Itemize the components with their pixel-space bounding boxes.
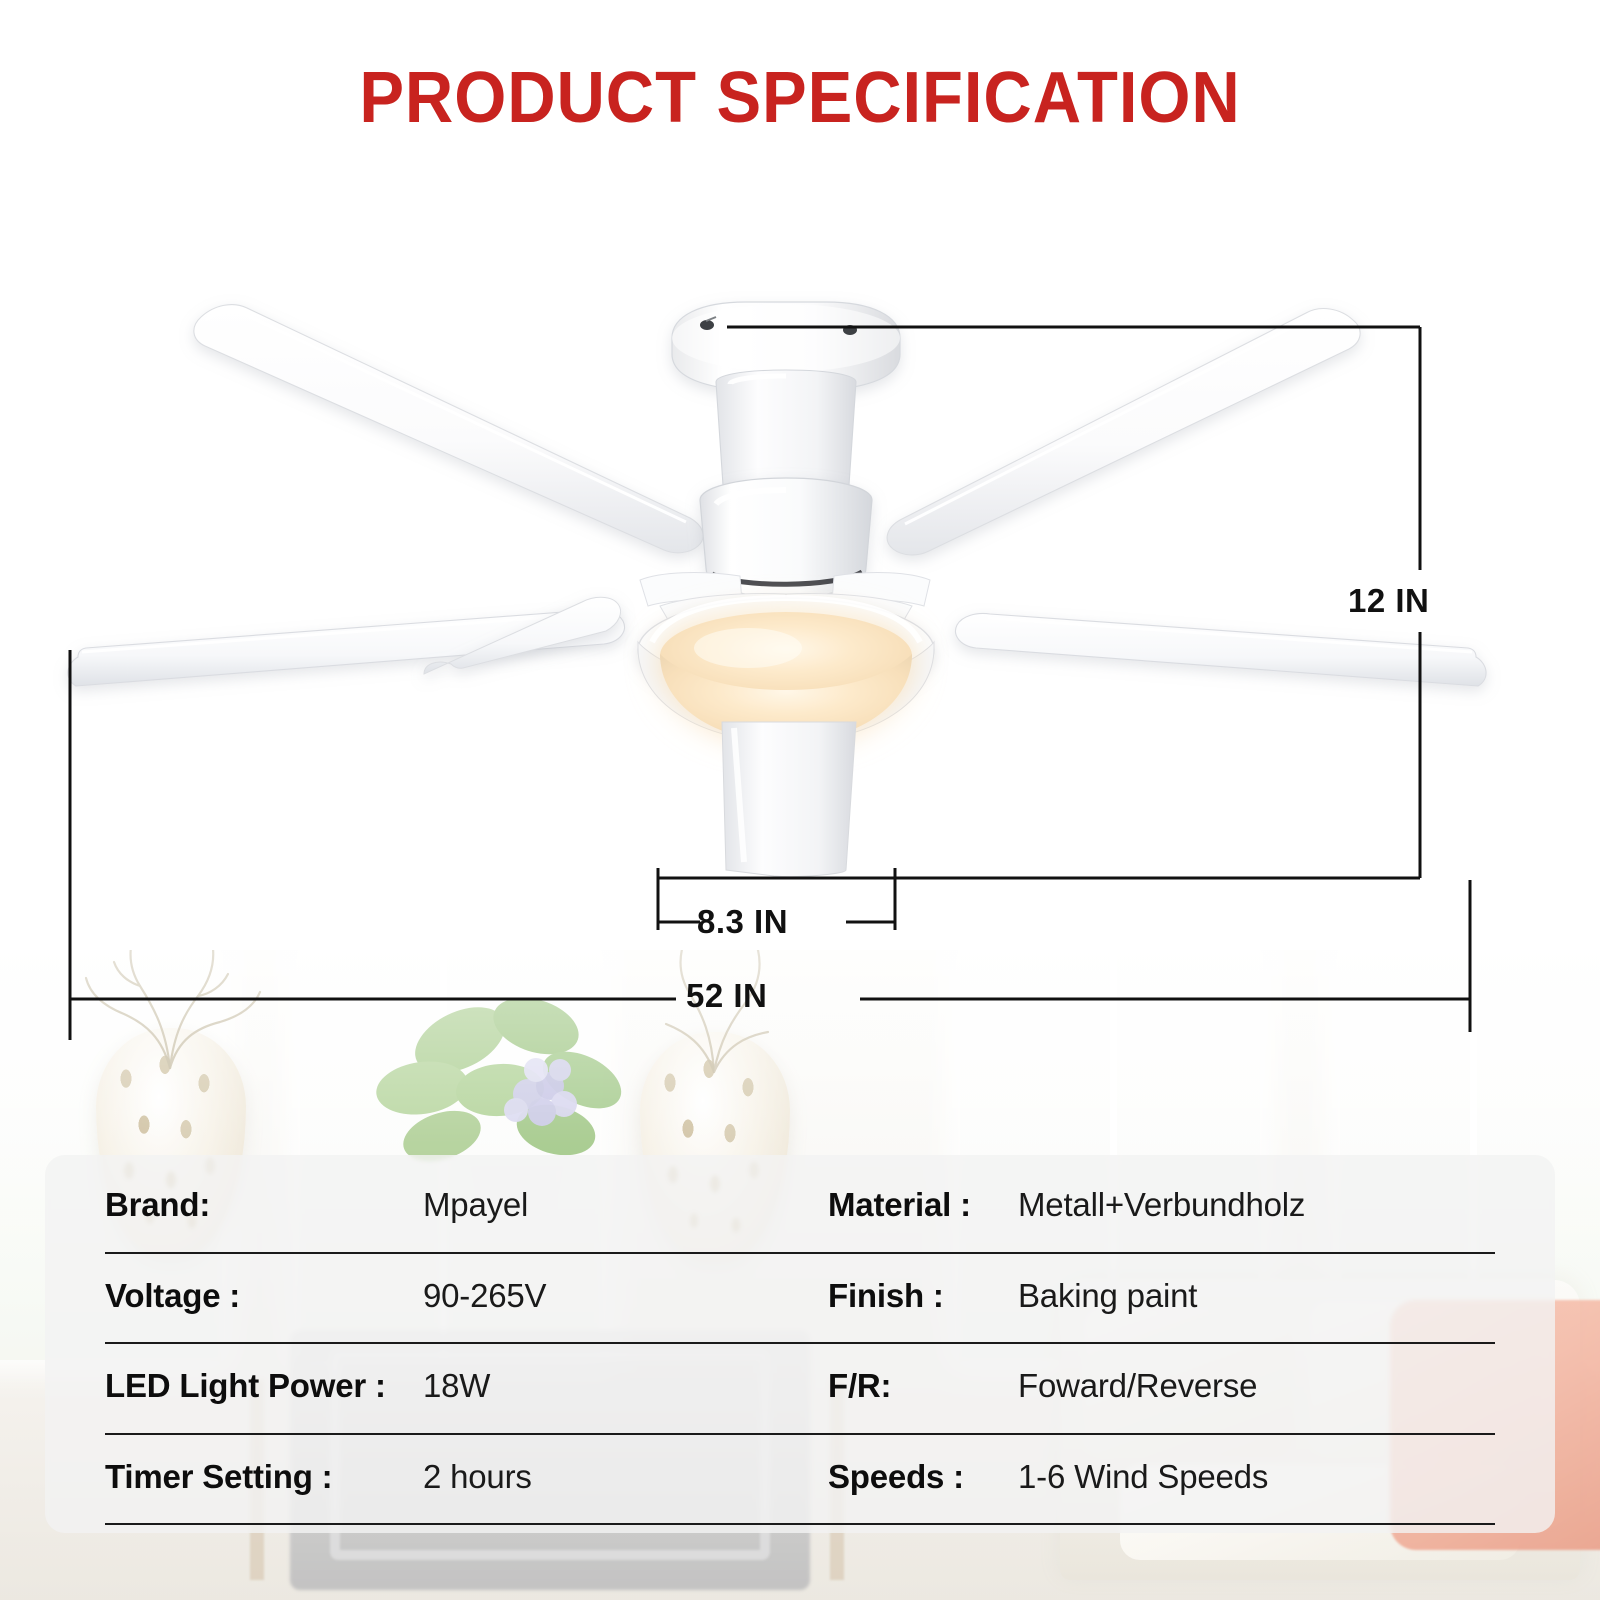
dimension-label-housing-width: 8.3 IN bbox=[697, 903, 788, 941]
fan-lower-stem bbox=[722, 722, 856, 877]
spec-value: Baking paint bbox=[1018, 1277, 1197, 1315]
table-row: Voltage : 90-265V bbox=[105, 1254, 800, 1345]
spec-value: 18W bbox=[423, 1367, 490, 1405]
product-spec-image: PRODUCT SPECIFICATION bbox=[0, 0, 1600, 1600]
table-row: Material : Metall+Verbundholz bbox=[800, 1163, 1495, 1254]
specification-table: Brand: Mpayel Material : Metall+Verbundh… bbox=[105, 1163, 1495, 1525]
spec-value: 1-6 Wind Speeds bbox=[1018, 1458, 1268, 1496]
spec-key: Brand: bbox=[105, 1186, 423, 1224]
table-row: LED Light Power : 18W bbox=[105, 1344, 800, 1435]
page-title: PRODUCT SPECIFICATION bbox=[56, 62, 1544, 134]
spec-key: Voltage : bbox=[105, 1277, 423, 1315]
twig-branches bbox=[70, 950, 270, 1070]
table-row: F/R: Foward/Reverse bbox=[800, 1344, 1495, 1435]
spec-key: Speeds : bbox=[828, 1458, 1018, 1496]
canopy-screw bbox=[843, 325, 857, 335]
dimension-label-height: 12 IN bbox=[1348, 582, 1429, 620]
spec-value: Foward/Reverse bbox=[1018, 1367, 1257, 1405]
table-row: Brand: Mpayel bbox=[105, 1163, 800, 1254]
spec-key: F/R: bbox=[828, 1367, 1018, 1405]
table-row: Finish : Baking paint bbox=[800, 1254, 1495, 1345]
fan-blade-upper-right bbox=[887, 309, 1360, 555]
table-row: Timer Setting : 2 hours bbox=[105, 1435, 800, 1526]
spec-value: 2 hours bbox=[423, 1458, 532, 1496]
fan-blade-upper-left bbox=[194, 305, 703, 553]
spec-key: Timer Setting : bbox=[105, 1458, 423, 1496]
fan-blade-right bbox=[956, 613, 1487, 686]
spec-value: Mpayel bbox=[423, 1186, 528, 1224]
table-row: Speeds : 1-6 Wind Speeds bbox=[800, 1435, 1495, 1526]
spec-key: Material : bbox=[828, 1186, 1018, 1224]
spec-key: Finish : bbox=[828, 1277, 1018, 1315]
spec-key: LED Light Power : bbox=[105, 1367, 423, 1405]
led-light-fixture bbox=[638, 598, 934, 742]
spec-value: Metall+Verbundholz bbox=[1018, 1186, 1305, 1224]
dimension-label-blade-span: 52 IN bbox=[686, 977, 767, 1015]
spec-value: 90-265V bbox=[423, 1277, 546, 1315]
specification-panel: Brand: Mpayel Material : Metall+Verbundh… bbox=[45, 1155, 1555, 1533]
